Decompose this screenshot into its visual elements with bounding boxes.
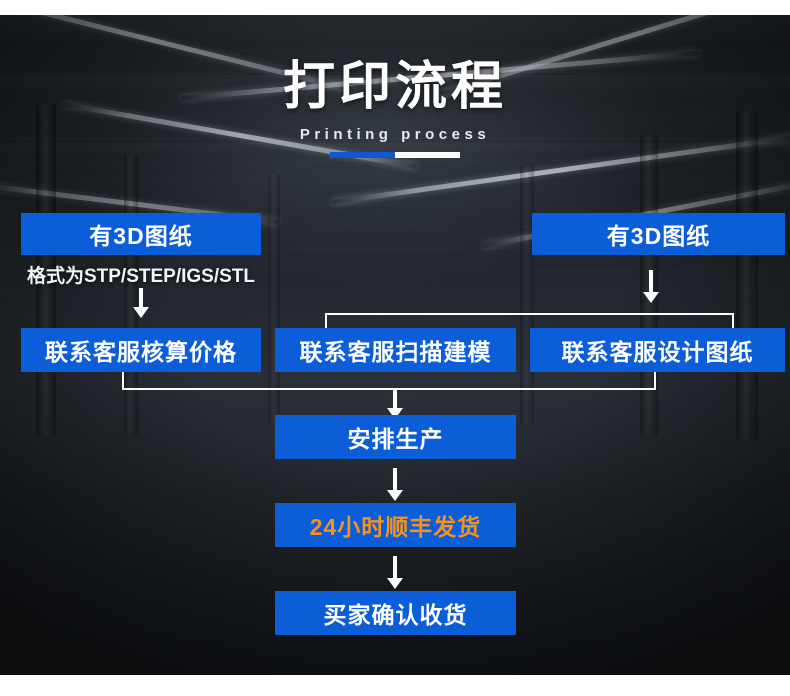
flow-box-label: 安排生产 [348,420,444,454]
flow-box-label: 24小时顺丰发货 [310,508,482,542]
page-title-block: 打印流程 Printing process [0,58,790,143]
flow-box-label: 联系客服扫描建模 [300,333,492,367]
flow-box-contact-service-quote[interactable]: 联系客服核算价格 [21,328,261,372]
flow-box-label: 联系客服设计图纸 [562,333,754,367]
flow-box-arrange-production[interactable]: 安排生产 [275,415,516,459]
flow-box-buyer-confirm[interactable]: 买家确认收货 [275,591,516,635]
title-underline [330,152,460,158]
title-underline-white-segment [395,152,460,158]
page-subtitle: Printing process [0,126,790,143]
drawing-format-caption: 格式为STP/STEP/IGS/STL [11,261,271,288]
flow-box-label: 有3D图纸 [607,217,710,251]
flow-box-label: 联系客服核算价格 [45,333,237,367]
arrow-down-to-shipping [387,468,403,502]
arrow-down-left [133,288,149,318]
arrow-down-right [643,270,659,304]
bracket-top-join [325,313,734,329]
arrow-down-to-confirm [387,556,403,590]
top-white-margin [0,0,790,15]
flow-box-contact-service-design[interactable]: 联系客服设计图纸 [530,328,785,372]
flow-box-label: 买家确认收货 [324,596,468,630]
flow-box-have-3d-drawing-left[interactable]: 有3D图纸 [21,213,261,255]
title-underline-blue-segment [330,152,395,158]
page-title: 打印流程 [0,58,790,116]
printing-process-infographic: 打印流程 Printing process 有3D图纸 有3D图纸 格式为STP… [0,0,790,696]
flow-box-label: 有3D图纸 [89,217,192,251]
flow-box-contact-service-scan[interactable]: 联系客服扫描建模 [275,328,516,372]
flow-box-have-3d-drawing-right[interactable]: 有3D图纸 [532,213,785,255]
flow-box-ship-24h[interactable]: 24小时顺丰发货 [275,503,516,547]
bottom-white-margin [0,675,790,696]
